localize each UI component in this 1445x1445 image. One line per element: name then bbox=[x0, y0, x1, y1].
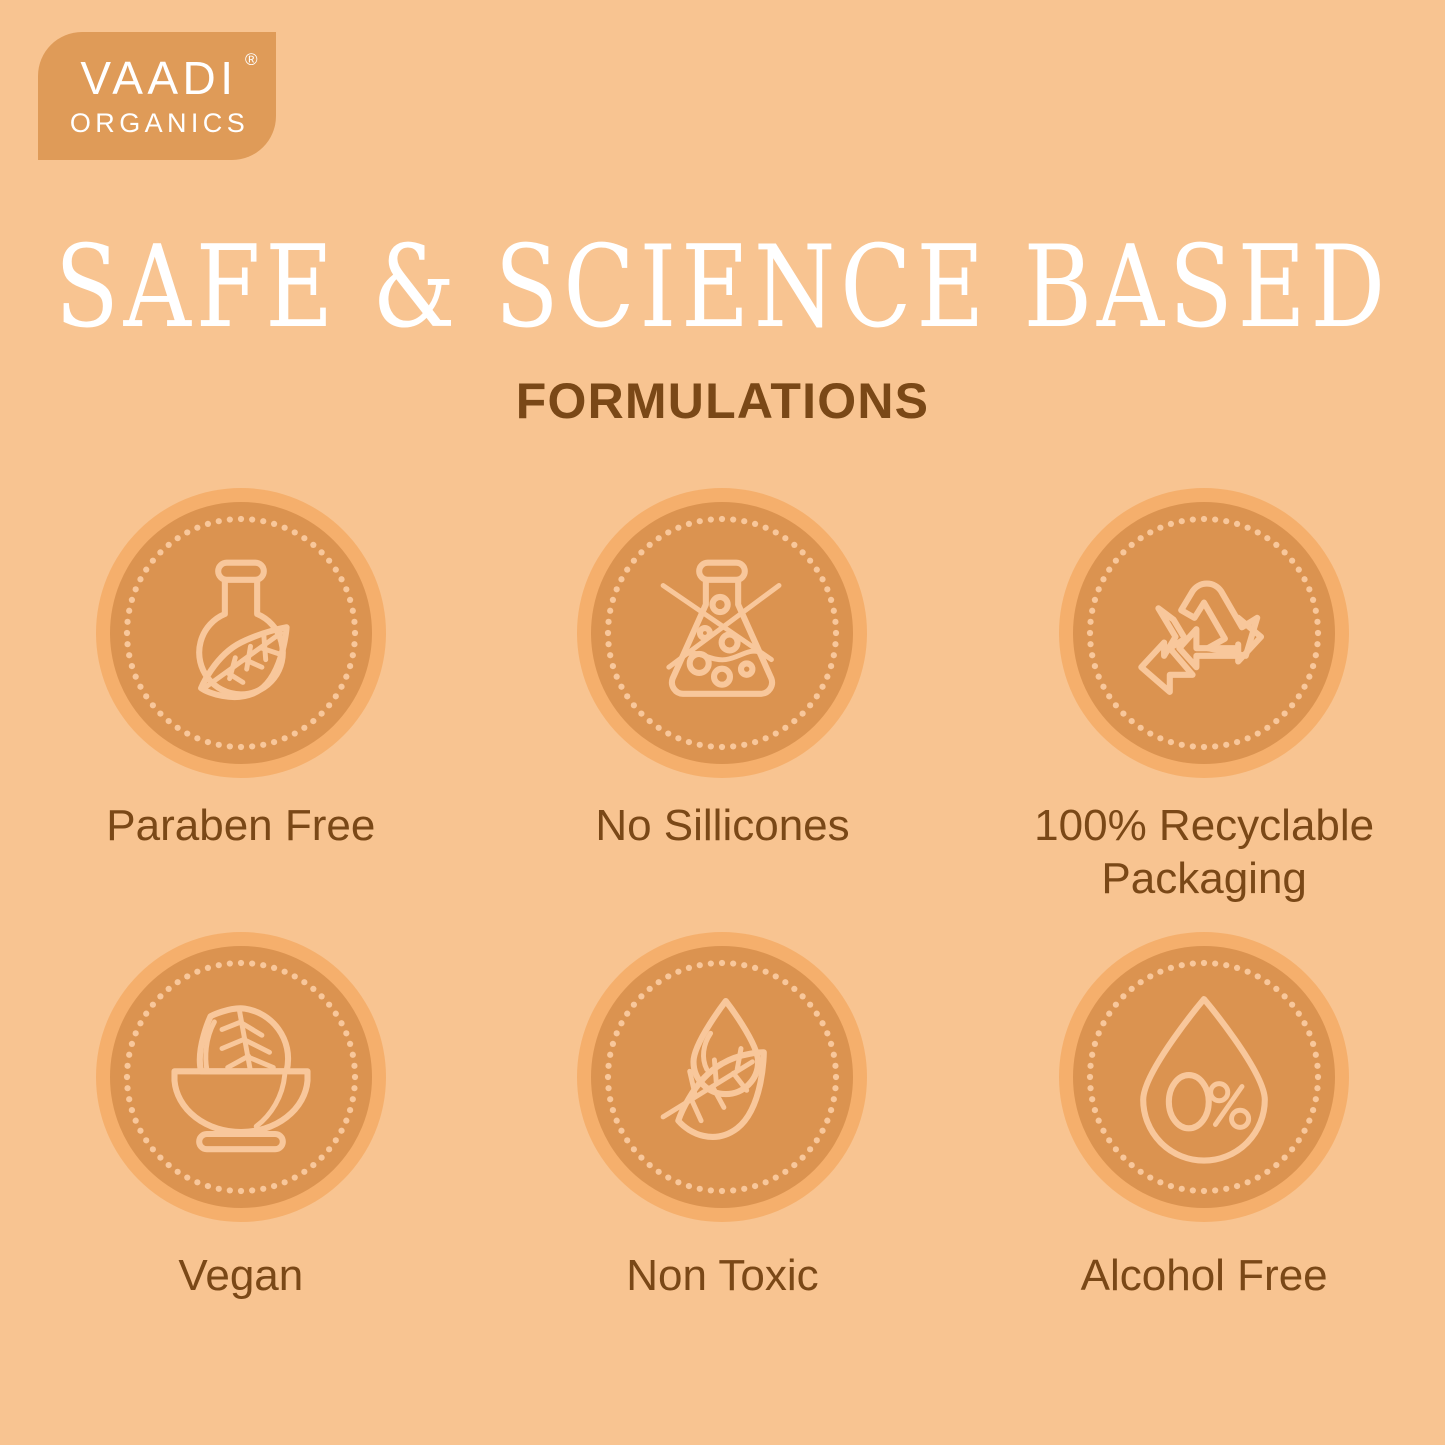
badge-label-line2: Packaging bbox=[1034, 853, 1374, 906]
droplet-zero-percent-icon bbox=[1109, 982, 1299, 1172]
badge-coin bbox=[1059, 932, 1349, 1222]
badge-label-line1: Vegan bbox=[178, 1251, 303, 1300]
badge-label-line1: Alcohol Free bbox=[1081, 1251, 1328, 1300]
registered-trademark-icon: ® bbox=[245, 51, 258, 68]
brand-logo: VAADI® ORGANICS bbox=[38, 32, 276, 160]
badge-coin-inner bbox=[591, 946, 853, 1208]
recycle-icon bbox=[1109, 538, 1299, 728]
badge-coin-inner bbox=[1073, 946, 1335, 1208]
bowl-with-leaf-icon bbox=[146, 982, 336, 1172]
droplet-with-leaf-icon bbox=[627, 982, 817, 1172]
feature-badge: Vegan bbox=[0, 932, 482, 1303]
badge-coin bbox=[577, 932, 867, 1222]
badge-coin-inner bbox=[591, 502, 853, 764]
badge-label: Non Toxic bbox=[626, 1250, 818, 1303]
promo-graphic: VAADI® ORGANICS SAFE & SCIENCE BASED FOR… bbox=[0, 0, 1445, 1445]
brand-tagline: ORGANICS bbox=[65, 110, 249, 137]
badge-label: No Sillicones bbox=[595, 800, 849, 853]
page-title: SAFE & SCIENCE BASED bbox=[22, 228, 1424, 347]
feature-badge: Non Toxic bbox=[482, 932, 964, 1303]
badge-coin bbox=[96, 488, 386, 778]
badge-coin bbox=[1059, 488, 1349, 778]
badge-coin bbox=[96, 932, 386, 1222]
feature-badge: Paraben Free bbox=[0, 488, 482, 906]
feature-badge: No Sillicones bbox=[482, 488, 964, 906]
erlenmeyer-flask-crossed-out-icon bbox=[627, 538, 817, 728]
badge-coin-inner bbox=[110, 946, 372, 1208]
feature-badge-grid: Paraben Free bbox=[0, 488, 1445, 1302]
feature-badge: Alcohol Free bbox=[963, 932, 1445, 1303]
brand-name: VAADI® bbox=[76, 55, 237, 101]
badge-label-line1: No Sillicones bbox=[595, 801, 849, 850]
badge-label-line1: Paraben Free bbox=[106, 801, 375, 850]
badge-label: Vegan bbox=[178, 1250, 303, 1303]
page-subtitle: FORMULATIONS bbox=[0, 372, 1445, 430]
badge-label: 100% Recyclable Packaging bbox=[1034, 800, 1374, 906]
badge-coin bbox=[577, 488, 867, 778]
badge-label-line1: 100% Recyclable bbox=[1034, 800, 1374, 853]
feature-badge: 100% Recyclable Packaging bbox=[963, 488, 1445, 906]
badge-label-line1: Non Toxic bbox=[626, 1251, 818, 1300]
badge-coin-inner bbox=[110, 502, 372, 764]
badge-label: Paraben Free bbox=[106, 800, 375, 853]
round-flask-with-leaf-icon bbox=[146, 538, 336, 728]
brand-name-text: VAADI bbox=[80, 52, 237, 104]
badge-coin-inner bbox=[1073, 502, 1335, 764]
badge-label: Alcohol Free bbox=[1081, 1250, 1328, 1303]
